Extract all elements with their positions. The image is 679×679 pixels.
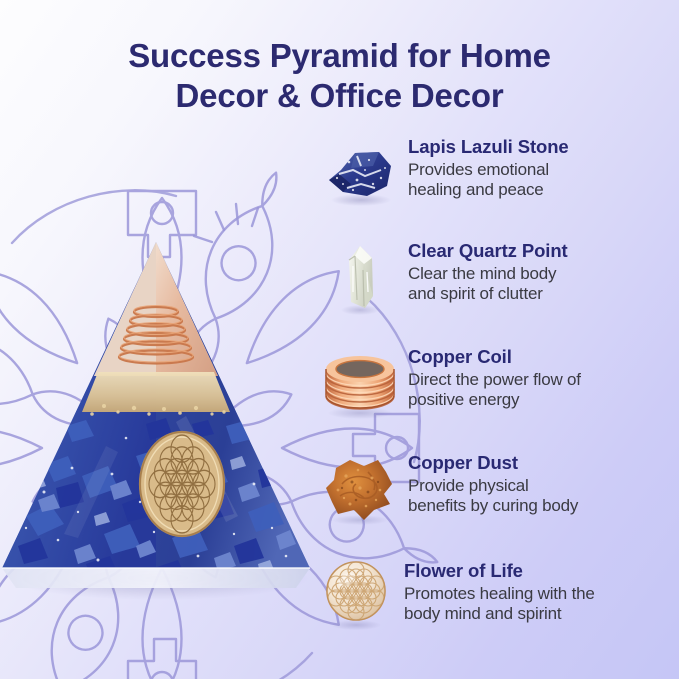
infographic-canvas: Success Pyramid for Home Decor & Office … [0, 0, 679, 679]
copper-coil-icon [312, 342, 408, 428]
clear-quartz-point-icon [312, 236, 408, 322]
feature-heading: Flower of Life [404, 561, 679, 582]
feature-heading: Copper Coil [408, 347, 679, 368]
lapis-lazuli-stone-icon [312, 132, 408, 218]
feature-description: Clear the mind body and spirit of clutte… [408, 264, 679, 305]
feature-heading: Lapis Lazuli Stone [408, 137, 679, 158]
feature-item-copper-coil: Copper Coil Direct the power flow of pos… [312, 342, 679, 428]
feature-list: Lapis Lazuli Stone Provides emotional he… [312, 132, 679, 642]
page-title: Success Pyramid for Home Decor & Office … [0, 36, 679, 117]
feature-item-copper-dust: Copper Dust Provide physical benefits by… [312, 448, 679, 534]
copper-dust-icon [312, 448, 408, 534]
feature-description: Provides emotional healing and peace [408, 160, 679, 201]
feature-description: Promotes healing with the body mind and … [404, 584, 679, 625]
feature-item-clear-quartz-point: Clear Quartz Point Clear the mind body a… [312, 236, 679, 322]
feature-description: Provide physical benefits by curing body [408, 476, 679, 517]
feature-item-flower-of-life: Flower of Life Promotes healing with the… [312, 552, 679, 638]
feature-description: Direct the power flow of positive energy [408, 370, 679, 411]
feature-heading: Clear Quartz Point [408, 241, 679, 262]
flower-of-life-icon [308, 552, 404, 638]
feature-heading: Copper Dust [408, 453, 679, 474]
feature-item-lapis-lazuli-stone: Lapis Lazuli Stone Provides emotional he… [312, 132, 679, 218]
product-pyramid-image [0, 216, 326, 626]
